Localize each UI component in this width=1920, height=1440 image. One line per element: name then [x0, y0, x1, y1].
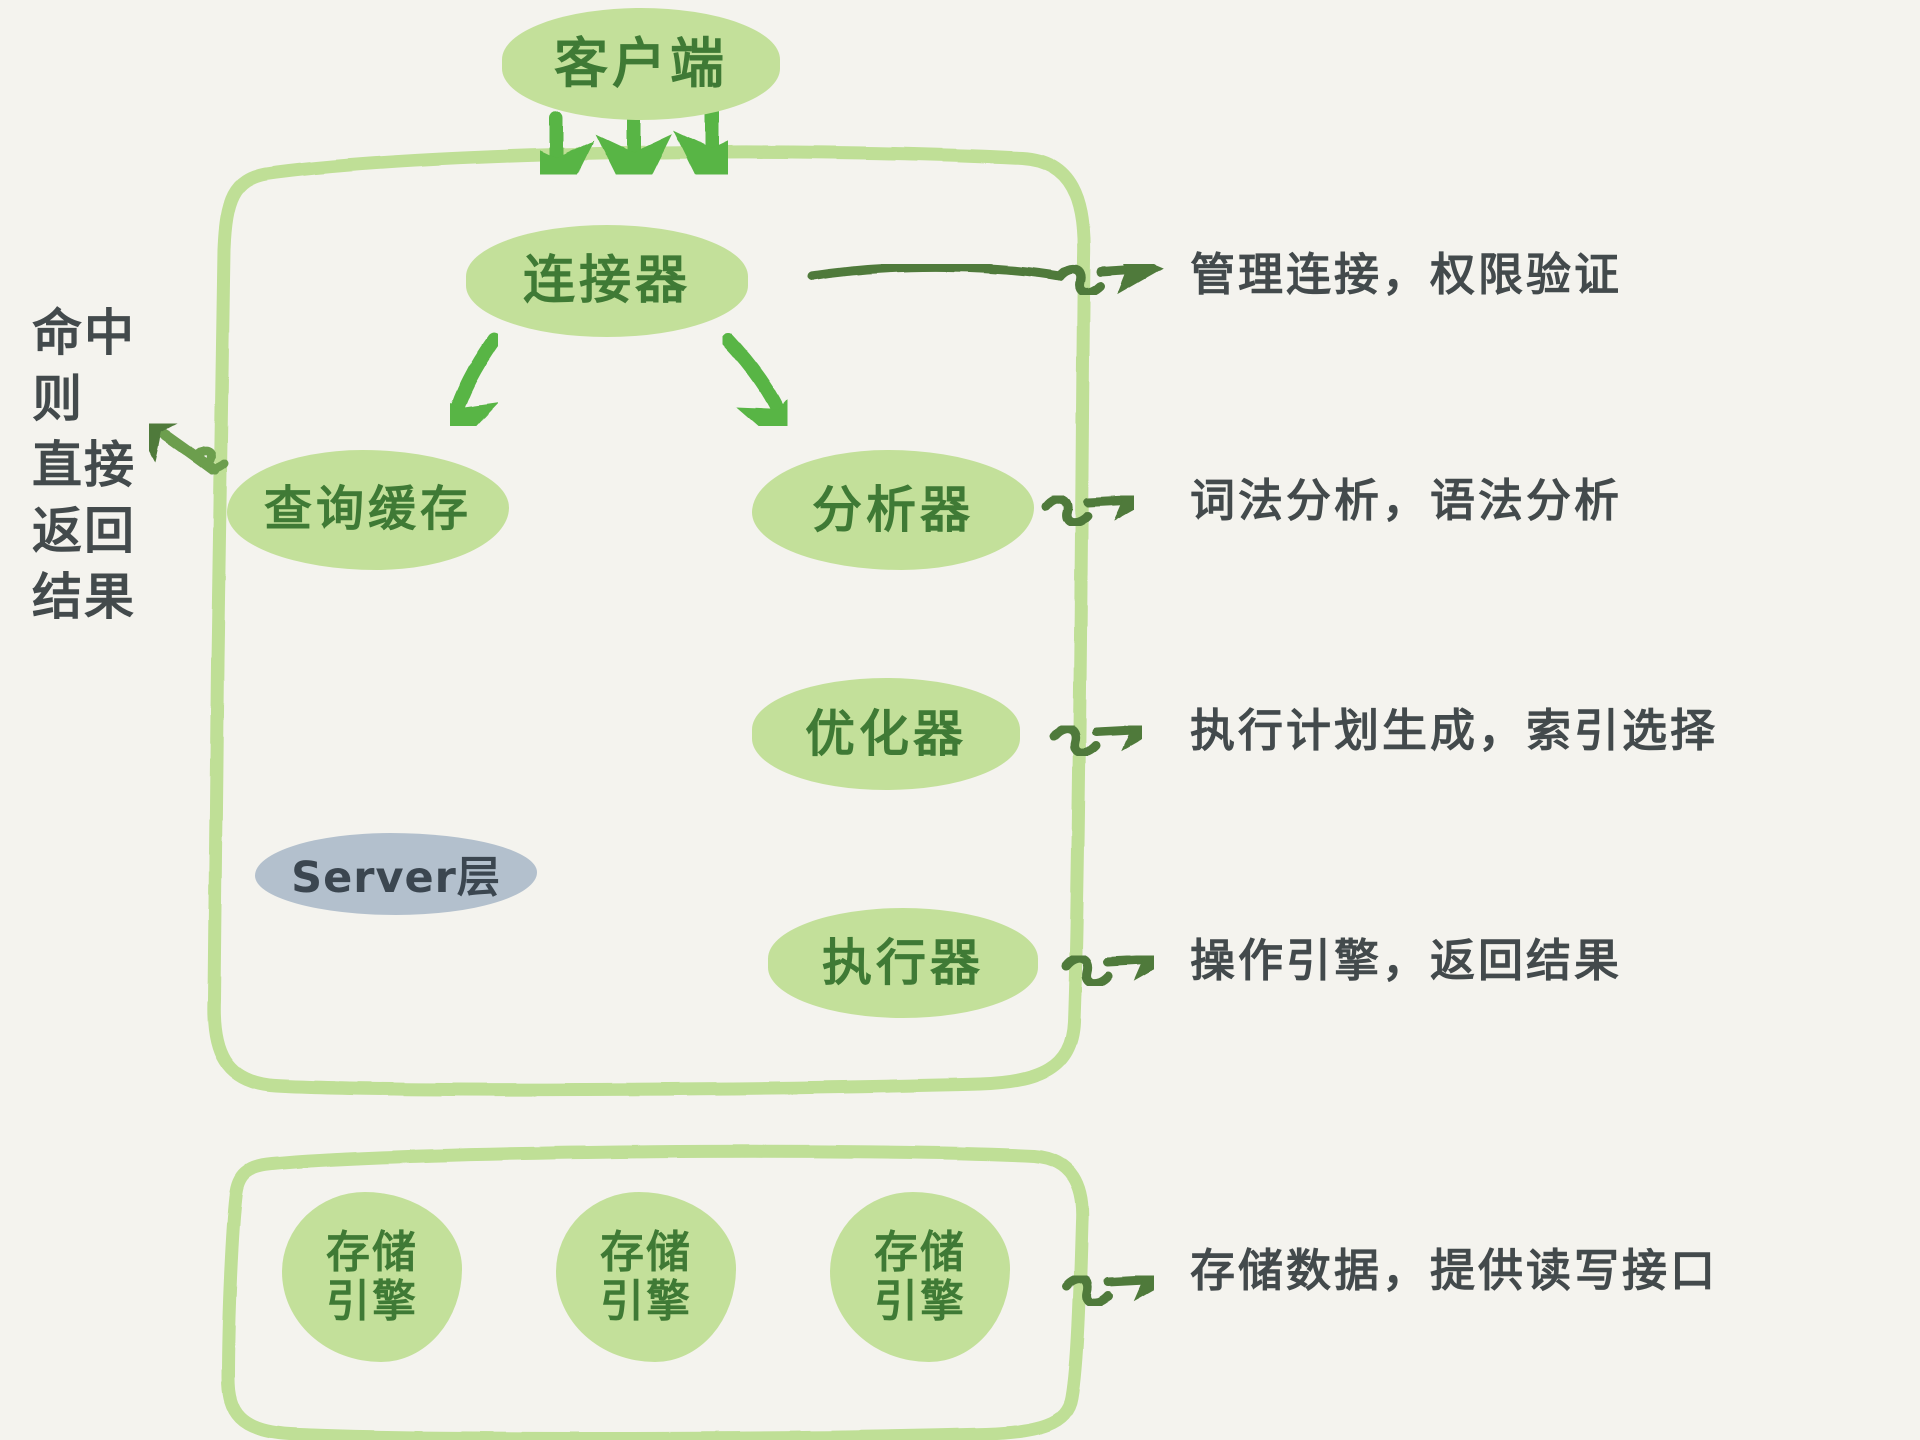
- node-analyzer[interactable]: 分析器: [752, 450, 1034, 570]
- annotation-executor: 操作引擎，返回结果: [1190, 924, 1622, 989]
- side-note-line: 返回: [32, 498, 182, 564]
- node-storage-engine[interactable]: 存储 引擎: [556, 1192, 736, 1362]
- side-note-cache-hit: 命中 则 直接 返回 结果: [32, 300, 182, 630]
- side-note-line: 直接: [32, 432, 182, 498]
- storage-engine-line2: 引擎: [874, 1277, 966, 1326]
- node-client[interactable]: 客户端: [502, 8, 780, 120]
- node-executor[interactable]: 执行器: [768, 908, 1038, 1018]
- arrow-connector-to-querycache: [454, 340, 494, 418]
- side-note-line: 则: [32, 366, 182, 432]
- annotation-arrow-analyzer: [1046, 498, 1126, 523]
- annotation-arrow-storage: [1066, 1278, 1146, 1303]
- node-storage-engine[interactable]: 存储 引擎: [830, 1192, 1010, 1362]
- annotation-arrow-optimizer: [1054, 728, 1134, 753]
- node-query-cache[interactable]: 查询缓存: [227, 450, 509, 570]
- storage-engine-line2: 引擎: [600, 1277, 692, 1326]
- node-connector[interactable]: 连接器: [466, 225, 748, 337]
- arrow-connector-to-analyzer: [728, 340, 782, 418]
- node-storage-engine[interactable]: 存储 引擎: [282, 1192, 462, 1362]
- storage-engine-line1: 存储: [326, 1227, 418, 1278]
- server-layer-tag: Server层: [255, 833, 537, 915]
- storage-engine-line2: 引擎: [326, 1277, 418, 1326]
- annotation-arrow-connector: [812, 267, 1132, 292]
- annotation-storage-engine: 存储数据，提供读写接口: [1190, 1234, 1718, 1299]
- side-note-line: 结果: [32, 564, 182, 630]
- annotation-optimizer: 执行计划生成，索引选择: [1190, 694, 1718, 759]
- storage-engine-line1: 存储: [600, 1227, 692, 1278]
- node-optimizer[interactable]: 优化器: [752, 678, 1020, 790]
- annotation-arrow-executor: [1066, 958, 1146, 983]
- diagram-canvas: 客户端 连接器 查询缓存 分析器 优化器 执行器 存储 引擎 存储 引擎 存储 …: [0, 0, 1920, 1440]
- side-note-line: 命中: [32, 300, 182, 366]
- annotation-analyzer: 词法分析，语法分析: [1190, 464, 1622, 529]
- annotation-connector: 管理连接，权限验证: [1190, 238, 1622, 303]
- storage-engine-line1: 存储: [874, 1227, 966, 1278]
